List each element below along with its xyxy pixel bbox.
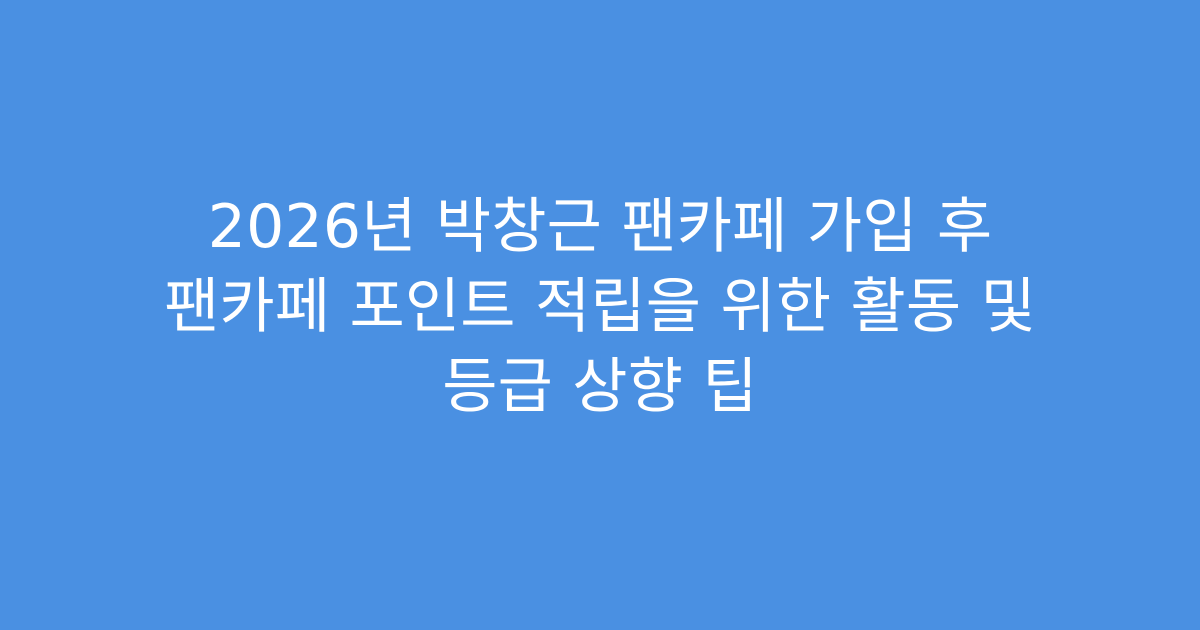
page-title: 2026년 박창근 팬카페 가입 후 팬카페 포인트 적립을 위한 활동 및 등… <box>35 187 1165 427</box>
headline-block: 2026년 박창근 팬카페 가입 후 팬카페 포인트 적립을 위한 활동 및 등… <box>35 187 1165 427</box>
headline-line-2: 팬카페 포인트 적립을 위한 활동 및 <box>35 267 1165 347</box>
headline-line-1: 2026년 박창근 팬카페 가입 후 <box>35 187 1165 267</box>
og-image-canvas: 2026년 박창근 팬카페 가입 후 팬카페 포인트 적립을 위한 활동 및 등… <box>0 0 1200 630</box>
headline-line-3: 등급 상향 팁 <box>35 347 1165 427</box>
